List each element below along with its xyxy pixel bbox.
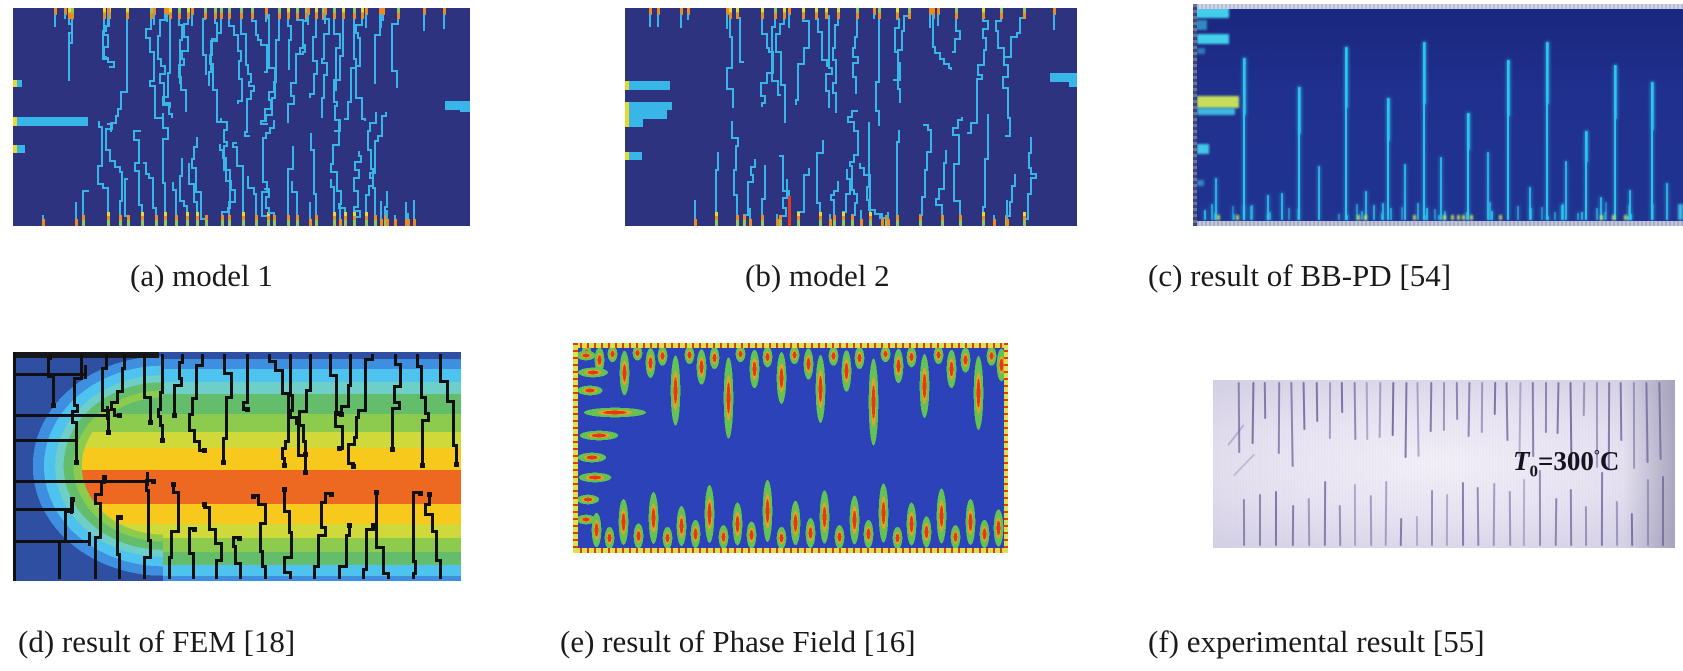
crack-segment: [958, 138, 960, 146]
crack-segment: [926, 160, 928, 169]
field-element: [955, 13, 958, 19]
crack-segment: [868, 142, 870, 149]
caption-c: (c) result of BB-PD [54]: [1148, 258, 1451, 294]
crack-segment: [808, 22, 810, 32]
crack-segment: [309, 354, 312, 363]
crack-segment: [412, 503, 415, 511]
crack-segment: [617, 491, 630, 553]
crack-segment: [896, 185, 898, 193]
crack-segment: [317, 540, 320, 550]
crack-segment: [51, 403, 56, 408]
crack-segment: [167, 74, 169, 84]
crack-segment: [771, 28, 773, 38]
crack-segment: [73, 380, 76, 389]
crack-segment: [775, 343, 788, 413]
crack-segment: [225, 414, 228, 429]
crack-segment: [290, 541, 293, 556]
crack-segment: [1007, 104, 1009, 113]
crack-segment: [163, 84, 165, 94]
field-element: [629, 81, 670, 90]
field-element: [1499, 215, 1502, 220]
field-element: [380, 219, 383, 226]
crack-segment: [349, 372, 352, 379]
crack-segment: [335, 83, 337, 90]
crack-segment: [412, 572, 417, 575]
crack-segment: [717, 152, 719, 153]
crack-segment: [344, 118, 349, 120]
crack-segment: [229, 192, 231, 197]
crack-segment: [152, 193, 154, 198]
field-element: [221, 220, 224, 226]
crack-segment: [374, 67, 376, 75]
crack-segment: [380, 201, 382, 219]
crack-segment: [232, 142, 237, 144]
crack-segment: [283, 556, 293, 559]
crack-segment: [731, 52, 733, 60]
crack-segment: [102, 32, 104, 41]
field-element: [941, 220, 944, 226]
crack-segment: [175, 197, 177, 203]
field-element: [842, 220, 845, 226]
crack-segment: [786, 181, 788, 190]
crack-segment: [992, 503, 1005, 553]
crack-segment: [15, 414, 109, 417]
crack-segment: [323, 35, 325, 45]
field-element: [982, 8, 985, 12]
crack-segment: [739, 28, 741, 36]
crack-segment: [171, 115, 173, 118]
crack-segment: [362, 568, 368, 571]
crack-segment: [172, 182, 174, 189]
crack-segment: [424, 503, 431, 506]
crack-segment: [340, 194, 342, 203]
crack-segment: [287, 120, 289, 123]
crack-segment: [369, 122, 377, 124]
crack-segment: [230, 189, 236, 191]
crack-segment: [896, 193, 898, 200]
crack-segment: [687, 14, 689, 20]
crack-segment: [1581, 212, 1583, 220]
crack-segment: [997, 32, 999, 41]
crack-segment: [287, 113, 289, 120]
crack-segment: [833, 190, 839, 192]
field-element: [214, 13, 217, 19]
crack-segment: [851, 173, 853, 182]
crack-segment: [428, 497, 431, 503]
crack-segment: [212, 80, 214, 87]
field-element: [287, 220, 290, 226]
crack-segment: [854, 210, 856, 214]
crack-segment: [830, 194, 835, 196]
crack-segment: [333, 190, 335, 196]
crack-segment: [330, 163, 334, 165]
crack-segment: [761, 104, 763, 107]
crack-segment: [355, 419, 358, 430]
crack-segment: [152, 207, 157, 209]
crack-segment: [921, 196, 926, 198]
crack-segment: [647, 483, 660, 553]
crack-segment: [1244, 58, 1246, 115]
panel-e-right-edge: [1004, 343, 1008, 553]
crack-segment: [262, 137, 267, 139]
crack-segment: [236, 156, 238, 165]
crack-segment: [253, 193, 257, 195]
crack-segment: [846, 169, 848, 172]
field-element: [856, 13, 859, 19]
crack-segment: [385, 112, 387, 115]
crack-segment: [938, 194, 940, 198]
crack-segment: [1233, 214, 1235, 220]
crack-segment: [735, 145, 739, 147]
field-element: [17, 80, 22, 87]
crack-segment: [828, 36, 830, 44]
crack-segment: [219, 149, 224, 151]
field-element: [1000, 13, 1003, 19]
field-element: [164, 212, 167, 216]
field-element: [694, 219, 697, 226]
field-element: [779, 220, 782, 226]
crack-segment: [302, 36, 304, 45]
field-element: [82, 220, 85, 226]
crack-segment: [58, 563, 61, 579]
crack-segment: [573, 429, 625, 442]
field-element: [394, 219, 397, 226]
crack-segment: [162, 113, 164, 114]
crack-segment: [945, 150, 947, 157]
crack-segment: [13, 352, 16, 581]
crack-segment: [431, 530, 438, 533]
crack-segment: [289, 381, 292, 388]
crack-segment: [573, 406, 657, 419]
crack-segment: [255, 203, 257, 208]
field-element: [126, 13, 129, 19]
crack-segment: [107, 14, 109, 26]
crack-segment: [143, 372, 146, 384]
crack-segment: [375, 512, 378, 522]
crack-segment: [94, 493, 103, 496]
crack-segment: [268, 16, 270, 25]
crack-segment: [1438, 215, 1440, 220]
crack-segment: [1346, 215, 1348, 220]
crack-segment: [357, 200, 359, 206]
crack-segment: [837, 181, 839, 190]
crack-segment: [225, 180, 232, 182]
crack-segment: [878, 57, 880, 66]
crack-segment: [1390, 208, 1392, 220]
crack-segment: [846, 172, 848, 178]
crack-segment: [74, 460, 79, 465]
field-element: [178, 13, 181, 19]
field-element: [287, 13, 290, 19]
crack-segment: [1489, 202, 1491, 220]
crack-segment: [816, 166, 818, 174]
crack-segment: [345, 534, 351, 537]
field-element: [344, 212, 347, 216]
field-element: [361, 8, 364, 12]
crack-segment: [310, 141, 312, 145]
field-element: [1023, 220, 1026, 226]
crack-segment: [234, 562, 242, 565]
crack-segment: [262, 161, 264, 165]
crack-segment: [313, 178, 315, 183]
crack-segment: [816, 157, 818, 166]
crack-segment: [780, 70, 782, 78]
crack-segment: [102, 45, 104, 52]
crack-segment: [399, 366, 402, 381]
crack-segment: [816, 152, 824, 154]
crack-segment: [1027, 193, 1032, 195]
field-element: [1217, 215, 1220, 220]
crack-segment: [1005, 135, 1011, 137]
crack-segment: [114, 166, 121, 168]
field-element: [386, 219, 389, 226]
crack-segment: [169, 28, 171, 37]
field-element: [169, 13, 172, 19]
crack-segment: [188, 531, 191, 546]
crack-segment: [345, 554, 348, 565]
crack-segment: [782, 183, 784, 190]
field-element: [186, 220, 189, 226]
field-element: [715, 212, 718, 216]
crack-segment: [185, 111, 187, 112]
crack-segment: [261, 210, 263, 215]
crack-segment: [866, 190, 868, 199]
crack-segment: [764, 167, 766, 175]
crack-segment: [943, 184, 945, 188]
crack-segment: [877, 473, 890, 553]
crack-segment: [245, 35, 247, 43]
crack-segment: [283, 495, 286, 510]
crack-segment: [1297, 209, 1299, 220]
field-element: [342, 8, 345, 12]
crack-segment: [262, 154, 264, 161]
crack-segment: [339, 204, 341, 219]
crack-segment: [261, 198, 263, 204]
panel-c-left-edge: [1193, 4, 1197, 226]
crack-segment: [168, 571, 171, 579]
crack-segment: [1630, 214, 1632, 220]
crack-segment: [188, 546, 191, 552]
field-element: [344, 220, 347, 226]
crack-segment: [358, 155, 362, 157]
crack-segment: [782, 207, 787, 209]
crack-segment: [722, 343, 735, 453]
crack-segment: [851, 189, 855, 191]
crack-segment: [71, 21, 73, 28]
crack-segment: [183, 205, 188, 207]
field-element: [353, 13, 356, 19]
crack-segment: [168, 556, 173, 559]
field-element: [1678, 204, 1683, 220]
crack-segment: [193, 201, 198, 203]
crack-segment: [924, 186, 926, 196]
crack-segment: [382, 14, 384, 21]
crack-segment: [984, 158, 989, 160]
crack-segment: [896, 163, 898, 168]
crack-segment: [162, 173, 164, 182]
crack-segment: [735, 151, 737, 157]
crack-segment: [195, 367, 198, 377]
crack-segment: [953, 176, 955, 186]
crack-segment: [220, 121, 228, 123]
crack-segment: [953, 163, 960, 165]
crack-segment: [868, 166, 870, 174]
field-element: [825, 13, 828, 19]
crack-segment: [42, 215, 44, 219]
crack-segment: [736, 204, 738, 212]
panel-d-fem-result: [13, 352, 461, 581]
crack-segment: [374, 150, 376, 156]
crack-segment: [739, 52, 741, 60]
field-element: [204, 13, 207, 19]
crack-segment: [1426, 208, 1428, 220]
crack-segment: [735, 157, 737, 162]
crack-segment: [138, 180, 140, 185]
crack-segment: [246, 119, 248, 128]
crack-segment: [147, 521, 150, 529]
crack-segment: [875, 83, 877, 93]
crack-segment: [102, 187, 109, 189]
crack-segment: [309, 95, 311, 98]
crack-segment: [332, 153, 334, 163]
crack-segment: [119, 200, 123, 202]
field-element: [1197, 144, 1209, 154]
field-element: [413, 219, 416, 226]
field-element: [993, 219, 996, 226]
crack-segment: [918, 343, 931, 429]
field-element: [982, 13, 985, 19]
field-element: [1069, 80, 1077, 87]
crack-segment: [1030, 173, 1037, 175]
crack-segment: [825, 75, 827, 85]
crack-segment: [747, 195, 749, 204]
crack-segment: [943, 162, 947, 164]
crack-segment: [897, 51, 899, 58]
crack-segment: [333, 196, 335, 201]
field-element: [815, 13, 818, 19]
crack-segment: [853, 154, 859, 156]
field-element: [126, 8, 129, 12]
crack-segment: [161, 372, 164, 385]
crack-segment: [160, 438, 165, 443]
field-element: [749, 219, 752, 226]
crack-segment: [265, 14, 267, 22]
crack-segment: [878, 18, 880, 28]
crack-segment: [282, 463, 287, 468]
crack-segment: [964, 491, 977, 553]
crack-segment: [269, 127, 275, 129]
crack-segment: [1288, 208, 1290, 220]
crack-segment: [899, 90, 901, 98]
crack-segment: [391, 436, 394, 446]
crack-segment: [984, 170, 986, 175]
crack-segment: [75, 431, 78, 445]
crack-segment: [896, 155, 898, 163]
crack-segment: [246, 384, 249, 397]
crack-segment: [342, 20, 344, 30]
crack-segment: [761, 204, 763, 212]
field-element: [908, 13, 911, 19]
crack-segment: [273, 121, 275, 127]
crack-segment: [339, 67, 341, 74]
crack-segment: [188, 170, 190, 178]
crack-segment: [162, 182, 166, 184]
crack-segment: [171, 482, 176, 487]
crack-segment: [105, 137, 107, 145]
crack-segment: [312, 44, 314, 51]
crack-segment: [644, 343, 657, 383]
crack-segment: [109, 66, 115, 68]
crack-segment: [924, 181, 926, 186]
crack-segment: [164, 191, 166, 195]
crack-segment: [816, 195, 818, 202]
field-element: [1457, 215, 1460, 220]
crack-segment: [935, 198, 940, 200]
crack-segment: [938, 188, 945, 190]
crack-segment: [374, 36, 376, 44]
crack-segment: [1628, 205, 1630, 220]
crack-segment: [247, 181, 249, 187]
crack-segment: [365, 194, 370, 196]
panel-c-top-edge: [1193, 4, 1683, 9]
crack-segment: [134, 170, 140, 172]
field-element: [825, 8, 828, 12]
crack-segment: [309, 373, 312, 385]
crack-segment: [455, 447, 458, 460]
crack-segment: [106, 406, 109, 420]
crack-segment: [726, 14, 728, 29]
crack-segment: [124, 190, 126, 195]
crack-segment: [187, 38, 189, 45]
crack-segment: [1434, 209, 1436, 220]
crack-segment: [64, 14, 66, 19]
crack-segment: [316, 62, 318, 71]
crack-segment: [292, 146, 294, 149]
crack-segment: [987, 114, 989, 118]
crack-segment: [932, 29, 934, 39]
crack-segment: [797, 85, 799, 92]
crack-segment: [435, 553, 438, 559]
crack-segment: [1361, 211, 1363, 220]
crack-segment: [116, 522, 119, 528]
crack-segment: [878, 28, 880, 36]
crack-segment: [384, 206, 388, 208]
crack-segment: [1401, 207, 1403, 220]
crack-segment: [192, 563, 195, 579]
crack-segment: [715, 193, 717, 203]
crack-segment: [273, 120, 275, 121]
crack-segment: [803, 196, 805, 202]
crack-segment: [788, 14, 790, 28]
crack-segment: [1281, 193, 1283, 220]
crack-segment: [336, 190, 342, 192]
crack-segment: [375, 522, 378, 529]
crack-segment: [391, 38, 393, 45]
crack-segment: [295, 55, 297, 64]
field-element: [353, 220, 356, 226]
crack-segment: [1006, 200, 1008, 219]
crack-segment: [192, 527, 197, 532]
crack-segment: [172, 413, 177, 418]
crack-segment: [881, 213, 883, 219]
crack-segment: [1027, 201, 1029, 210]
crack-segment: [97, 165, 103, 167]
crack-segment: [257, 503, 267, 506]
field-element: [365, 220, 368, 226]
crack-segment: [238, 62, 240, 71]
crack-segment: [313, 183, 315, 193]
crack-segment: [874, 213, 881, 215]
